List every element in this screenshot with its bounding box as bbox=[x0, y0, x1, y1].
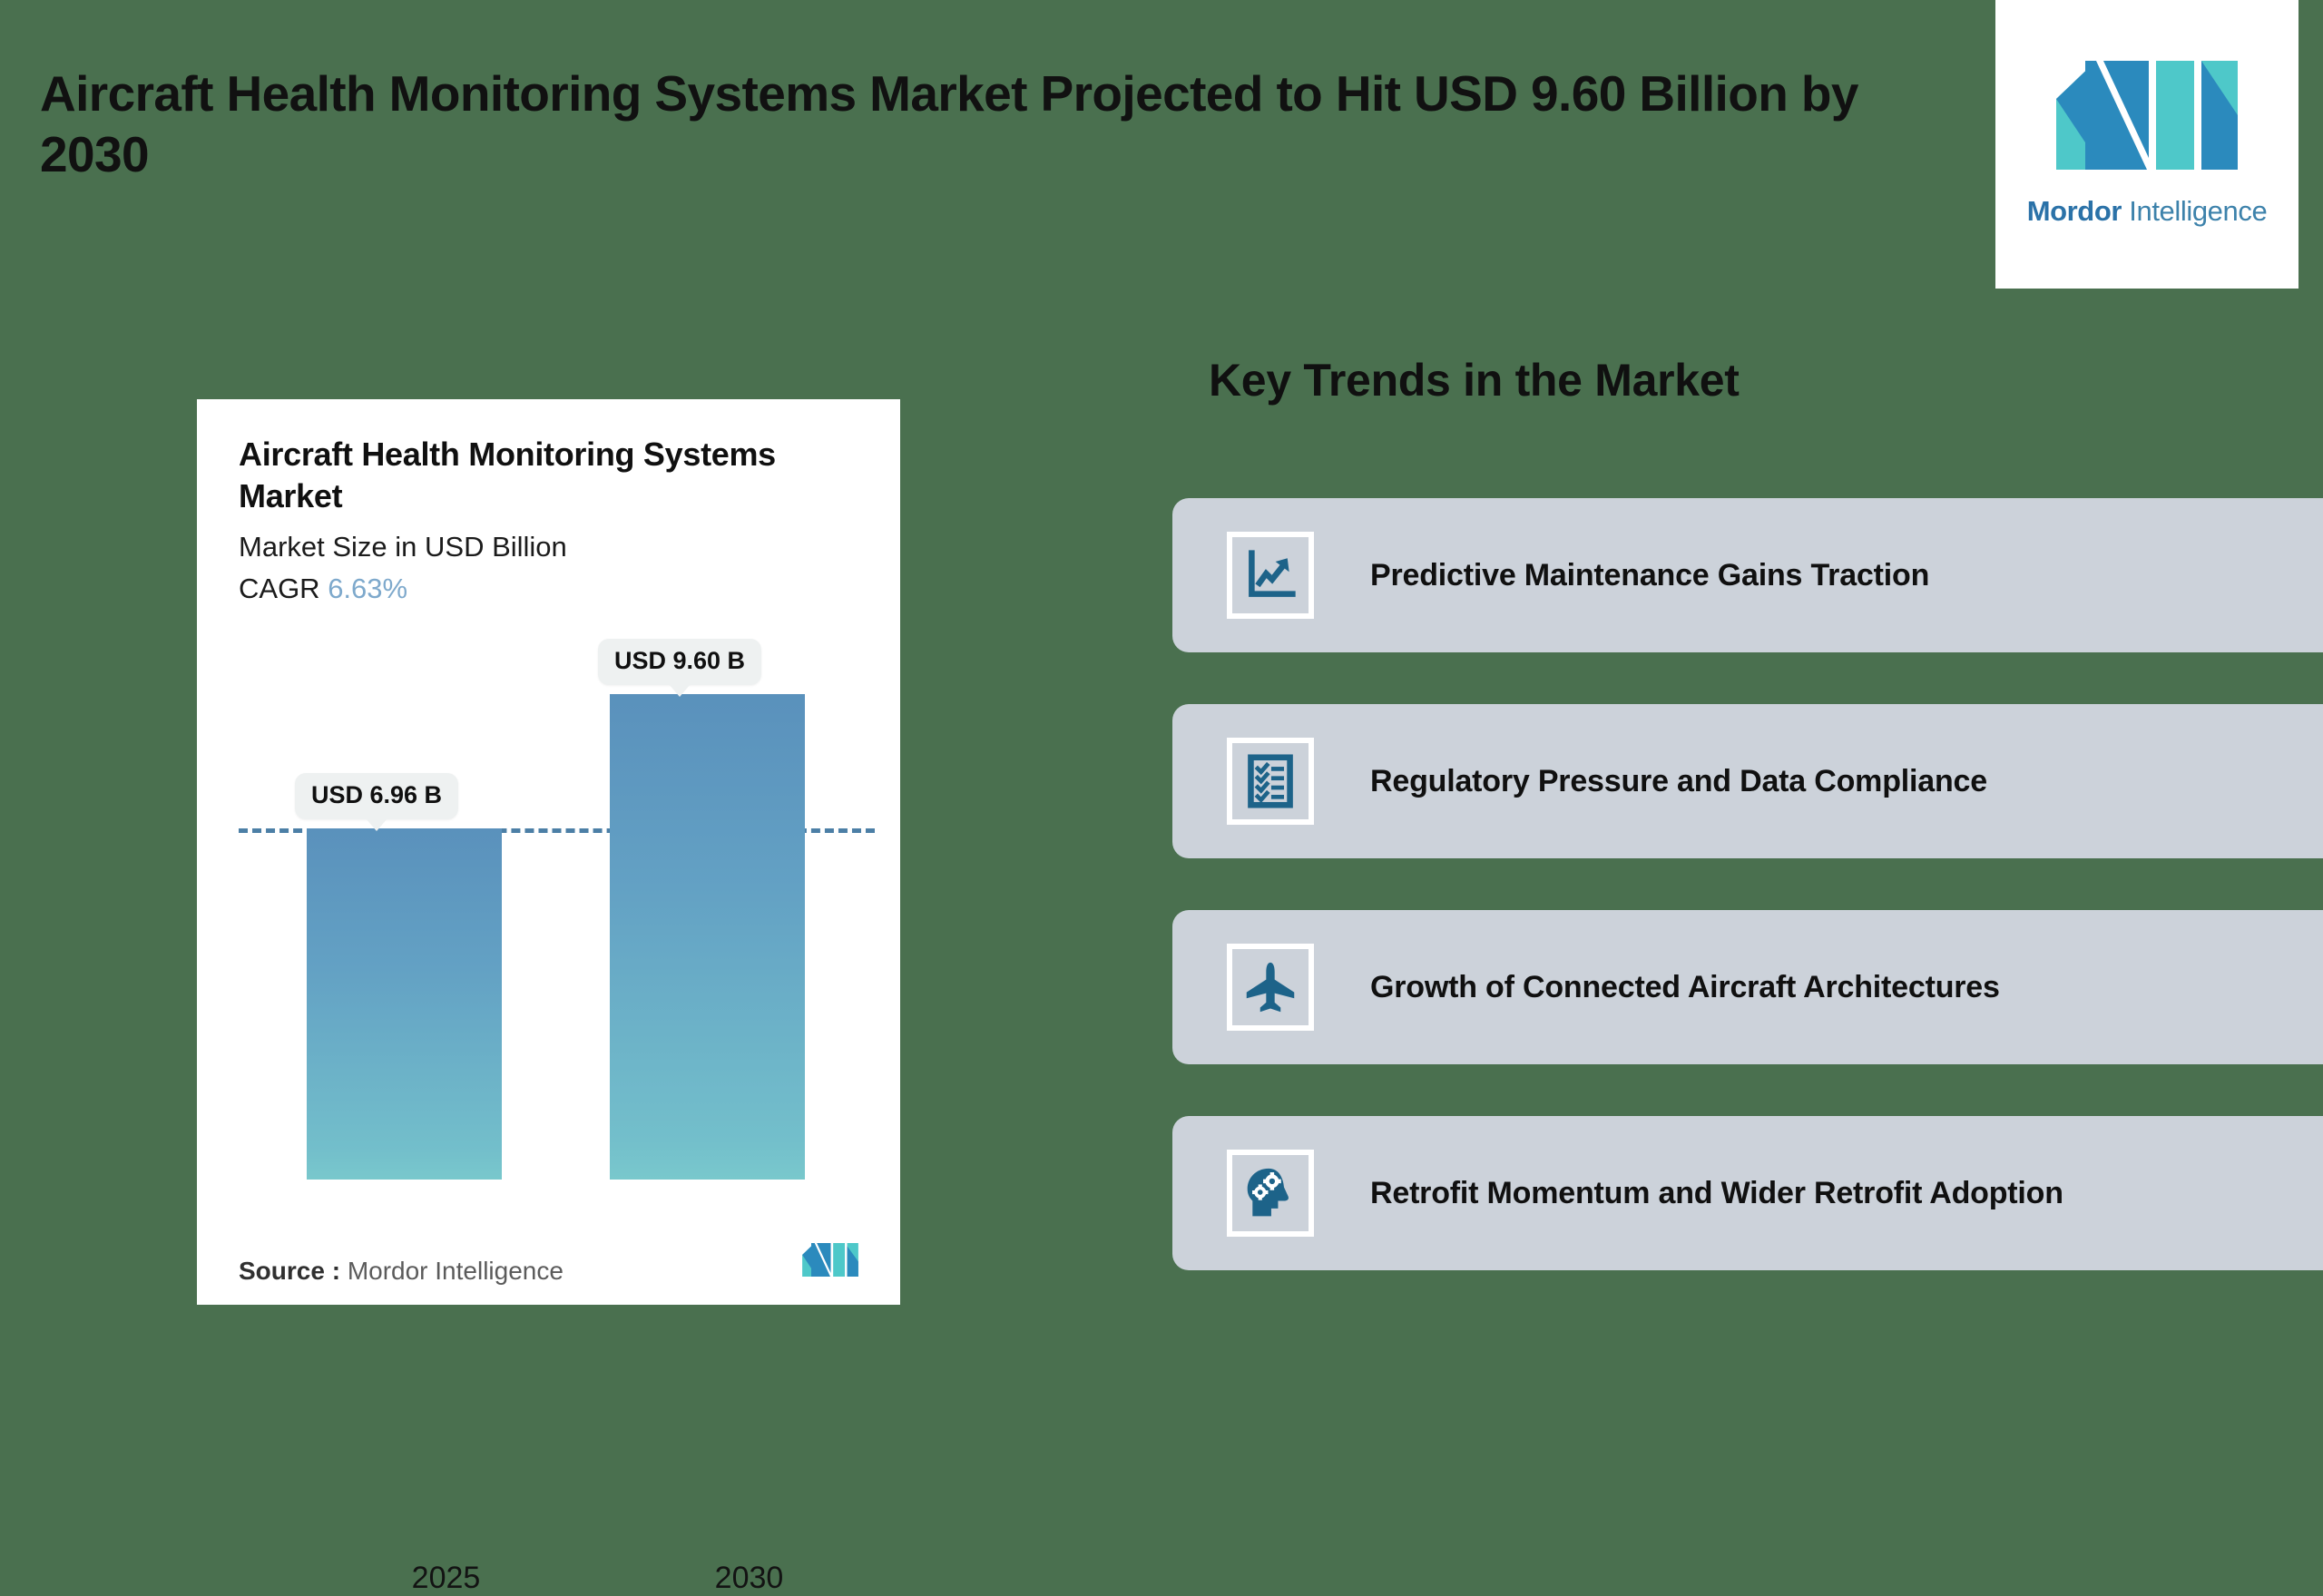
trend-card[interactable]: Predictive Maintenance Gains Traction bbox=[1172, 498, 2323, 652]
page-title: Aircraft Health Monitoring Systems Marke… bbox=[40, 64, 1927, 185]
head-gears-icon bbox=[1227, 1150, 1314, 1237]
brand-wordmark: Mordor Intelligence bbox=[2027, 195, 2268, 228]
source-label: Source : bbox=[239, 1257, 348, 1285]
value-label-2025: USD 6.96 B bbox=[295, 773, 458, 819]
trend-card[interactable]: Retrofit Momentum and Wider Retrofit Ado… bbox=[1172, 1116, 2323, 1270]
chart-source: Source : Mordor Intelligence bbox=[239, 1257, 564, 1286]
chart-subtitle: Market Size in USD Billion bbox=[239, 531, 858, 563]
source-value: Mordor Intelligence bbox=[348, 1257, 564, 1285]
trend-label: Predictive Maintenance Gains Traction bbox=[1370, 558, 1929, 593]
value-label-2030: USD 9.60 B bbox=[598, 639, 761, 685]
trend-card[interactable]: Growth of Connected Aircraft Architectur… bbox=[1172, 910, 2323, 1064]
brand-name-light: Intelligence bbox=[2122, 195, 2267, 227]
checklist-icon bbox=[1227, 738, 1314, 825]
mordor-m-logo-small-icon bbox=[802, 1243, 858, 1281]
bar-chart-plot-area: USD 6.96 B USD 9.60 B 2025 2030 bbox=[239, 762, 858, 1180]
airplane-icon bbox=[1227, 944, 1314, 1031]
x-axis-label-2025: 2025 bbox=[348, 1561, 544, 1596]
market-size-chart-card: Aircraft Health Monitoring Systems Marke… bbox=[197, 399, 900, 1305]
x-axis-label-2030: 2030 bbox=[652, 1561, 847, 1596]
chart-title: Aircraft Health Monitoring Systems Marke… bbox=[239, 434, 838, 516]
trend-label: Regulatory Pressure and Data Compliance bbox=[1370, 764, 1987, 799]
cagr-label: CAGR bbox=[239, 573, 328, 604]
key-trends-heading: Key Trends in the Market bbox=[1209, 354, 1740, 406]
brand-logo-panel: Mordor Intelligence bbox=[1995, 0, 2298, 289]
bar-2030 bbox=[610, 694, 805, 1180]
chart-cagr: CAGR 6.63% bbox=[239, 573, 858, 605]
trend-label: Growth of Connected Aircraft Architectur… bbox=[1370, 970, 2000, 1005]
bar-2025 bbox=[307, 828, 502, 1180]
cagr-value: 6.63% bbox=[328, 573, 407, 604]
brand-name-bold: Mordor bbox=[2027, 195, 2122, 227]
trend-card[interactable]: Regulatory Pressure and Data Compliance bbox=[1172, 704, 2323, 858]
growth-chart-icon bbox=[1227, 532, 1314, 619]
trend-label: Retrofit Momentum and Wider Retrofit Ado… bbox=[1370, 1176, 2063, 1211]
mordor-m-logo-icon bbox=[2056, 61, 2238, 184]
